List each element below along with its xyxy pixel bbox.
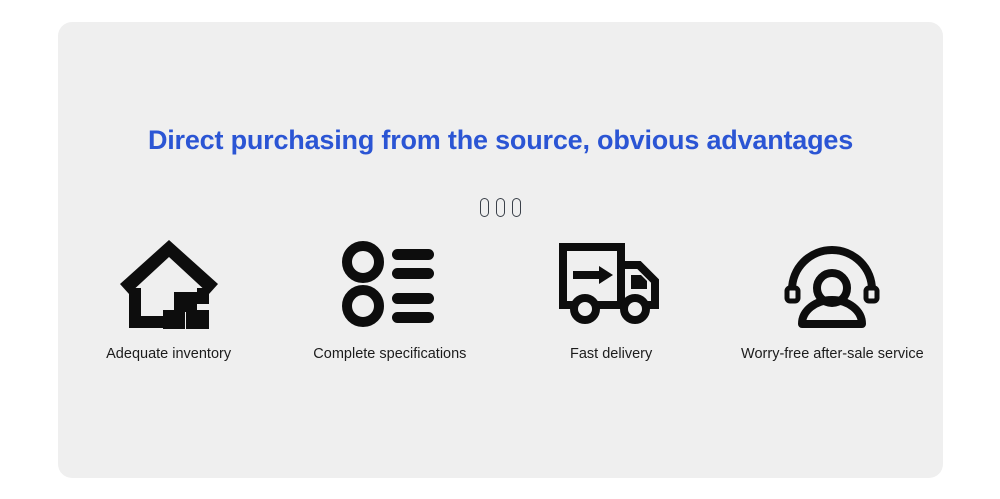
feature-label: Fast delivery [570, 346, 652, 363]
feature-label: Adequate inventory [106, 346, 231, 363]
advantages-card: Direct purchasing from the source, obvio… [58, 22, 943, 478]
feature-label: Complete specifications [313, 346, 466, 363]
specification-list-icon [342, 236, 438, 332]
feature-item-inventory: Adequate inventory [64, 236, 274, 363]
page-root: Direct purchasing from the source, obvio… [0, 0, 1000, 499]
delivery-truck-icon [559, 236, 663, 332]
customer-service-headset-icon [782, 236, 882, 332]
warehouse-icon [117, 236, 221, 332]
feature-item-delivery: Fast delivery [506, 236, 716, 363]
divider-pill-icon [480, 198, 489, 217]
features-row: Adequate inventory [58, 236, 943, 363]
page-title: Direct purchasing from the source, obvio… [58, 126, 943, 156]
divider-pill-icon [496, 198, 505, 217]
title-divider [58, 198, 943, 217]
feature-label: Worry-free after-sale service [741, 346, 924, 363]
feature-item-after-sale: Worry-free after-sale service [727, 236, 937, 363]
divider-pill-icon [512, 198, 521, 217]
feature-item-specifications: Complete specifications [285, 236, 495, 363]
